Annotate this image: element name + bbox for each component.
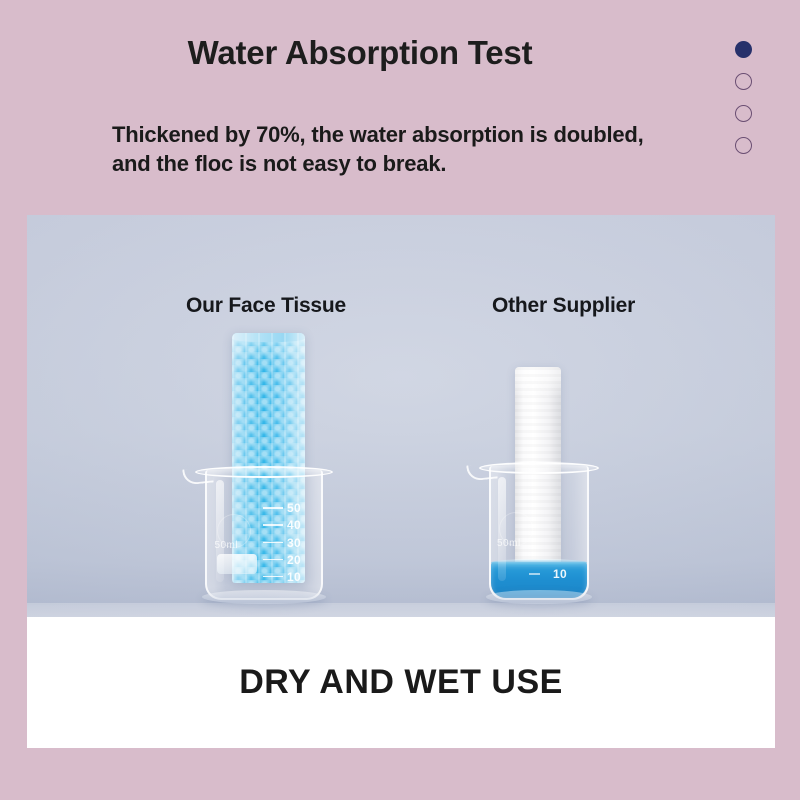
subtitle-line-1: Thickened by 70%, the water absorption i… xyxy=(112,120,722,149)
grad-50-label: 50 xyxy=(287,501,301,515)
label-other-supplier: Other Supplier xyxy=(492,294,635,318)
grad-20-label: 20 xyxy=(287,553,301,567)
pagination-dot-3[interactable] xyxy=(735,105,752,122)
grad-right-10-label: 10 xyxy=(553,567,567,581)
beaker-left-base xyxy=(202,590,326,604)
grad-50-tick xyxy=(263,507,283,509)
grad-20-tick xyxy=(263,559,283,561)
grad-30-tick xyxy=(263,542,283,544)
subtitle-line-2: and the floc is not easy to break. xyxy=(112,149,722,178)
label-our-face-tissue: Our Face Tissue xyxy=(186,294,346,318)
bottom-banner: DRY AND WET USE xyxy=(27,617,775,748)
page-subtitle: Thickened by 70%, the water absorption i… xyxy=(112,120,722,179)
grad-right-10: 10 xyxy=(529,567,581,581)
page-title: Water Absorption Test xyxy=(0,34,720,72)
pagination-dot-4[interactable] xyxy=(735,137,752,154)
beaker-left-scale: 50 40 30 20 10 xyxy=(263,501,315,587)
beaker-right-base xyxy=(486,590,592,604)
grad-10-tick xyxy=(263,576,283,578)
grad-40-label: 40 xyxy=(287,518,301,532)
pagination-dot-1-active[interactable] xyxy=(735,41,752,58)
grad-30-label: 30 xyxy=(287,536,301,550)
blue-roll-top xyxy=(232,333,305,342)
comparison-photo xyxy=(27,215,775,617)
grad-right-10-tick xyxy=(529,573,540,575)
beaker-left-rim xyxy=(195,466,333,478)
beaker-our-face-tissue: 50ml 50 40 30 20 10 xyxy=(205,470,323,600)
grad-40: 40 xyxy=(263,518,315,532)
banner-text: DRY AND WET USE xyxy=(239,663,563,702)
grad-30: 30 xyxy=(263,536,315,550)
grad-40-tick xyxy=(263,524,283,526)
beaker-other-supplier: 50ml 10 xyxy=(489,466,589,600)
photo-vignette xyxy=(27,215,775,617)
pagination-dot-2[interactable] xyxy=(735,73,752,90)
slide-root: Water Absorption Test Thickened by 70%, … xyxy=(0,0,800,800)
beaker-right-volume-text: 50ml xyxy=(497,538,521,549)
grad-10: 10 xyxy=(263,570,315,584)
pagination-dots[interactable] xyxy=(735,41,759,169)
beaker-left-volume-text: 50ml xyxy=(214,540,238,551)
grad-50: 50 xyxy=(263,501,315,515)
beaker-right-scale: 10 xyxy=(529,498,581,586)
grad-10-label: 10 xyxy=(287,570,301,584)
grad-20: 20 xyxy=(263,553,315,567)
beaker-left-damp-patch xyxy=(217,554,257,574)
